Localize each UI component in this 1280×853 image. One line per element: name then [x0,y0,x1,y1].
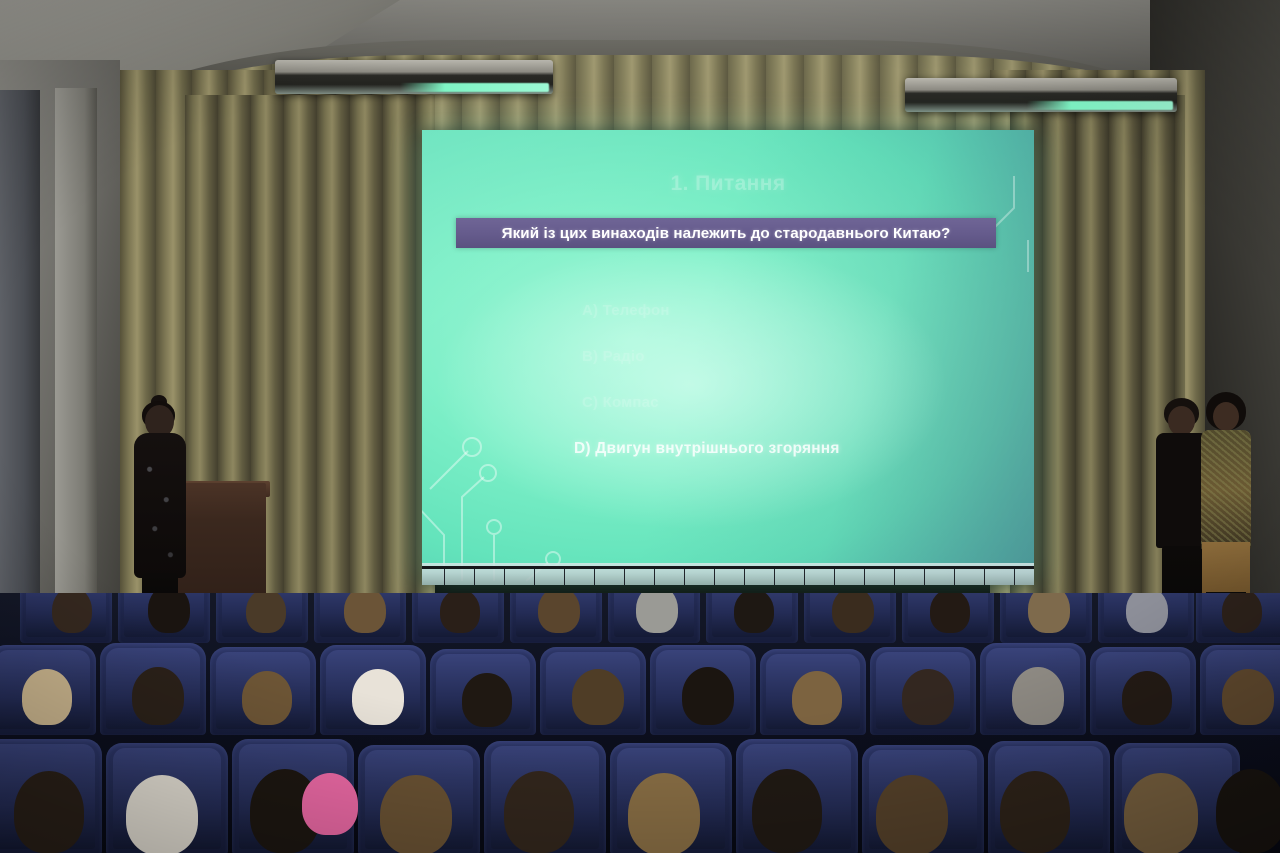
audience-head [246,593,286,633]
audience-head [1222,593,1262,633]
audience-head [440,593,480,633]
audience-head [1126,593,1168,633]
answer-option-b: B) Радіо [582,348,1012,365]
audience-seating [0,593,1280,853]
head [1213,402,1239,431]
screen-hooks [422,567,1034,585]
audience-head [1124,773,1198,853]
question-highlight-band: Який із цих винаходів належить до старод… [456,218,996,248]
ceiling-light-bar-right [905,78,1177,112]
ceiling-light-bar-left [275,60,553,94]
audience-head [352,669,404,725]
audience-head [752,769,822,853]
audience-head [1012,667,1064,725]
audience-head [380,775,452,853]
audience-head [22,669,72,725]
audience-head [132,667,184,725]
torso [1201,430,1251,550]
sequin-dress [134,433,186,578]
audience-head [504,771,574,853]
audience-head [876,775,948,853]
wall-left-pillar [55,88,97,658]
audience-head [242,671,292,725]
audience-head [734,593,774,633]
audience-head [628,773,700,853]
audience-head [148,593,190,633]
answer-option-d: D) Двигун внутрішнього згоряння [574,440,1012,458]
light-glow [1027,101,1173,110]
audience-head [682,667,734,725]
auditorium-scene: 1. Питання Який із цих винаходів належит… [0,0,1280,853]
audience-head [930,593,970,633]
slide-title: 1. Питання [422,172,1034,196]
light-glow [400,83,549,92]
head [1168,406,1195,436]
audience-head-pink-hair [302,773,358,835]
answer-option-c: C) Компас [582,394,1012,411]
audience-head [538,593,580,633]
audience-head [462,673,512,727]
question-text: Який із цих винаходів належить до старод… [502,225,951,242]
audience-head [1000,771,1070,853]
audience-head [902,669,954,725]
audience-head [52,593,92,633]
wall-left-panel [0,90,40,650]
audience-head [1028,593,1070,633]
audience-head [1122,671,1172,725]
audience-head [636,593,678,633]
audience-head [1222,669,1274,725]
audience-head [572,669,624,725]
audience-head [14,771,84,853]
answer-options-list: A) Телефон B) Радіо C) Компас D) Двигун … [582,302,1012,487]
audience-head [792,671,842,725]
audience-head [1216,769,1280,853]
answer-option-a: A) Телефон [582,302,1012,319]
projection-screen: 1. Питання Який із цих винаходів належит… [422,130,1034,585]
audience-head [832,593,874,633]
audience-head [126,775,198,853]
screen-rod [422,566,1034,569]
audience-head [344,593,386,633]
